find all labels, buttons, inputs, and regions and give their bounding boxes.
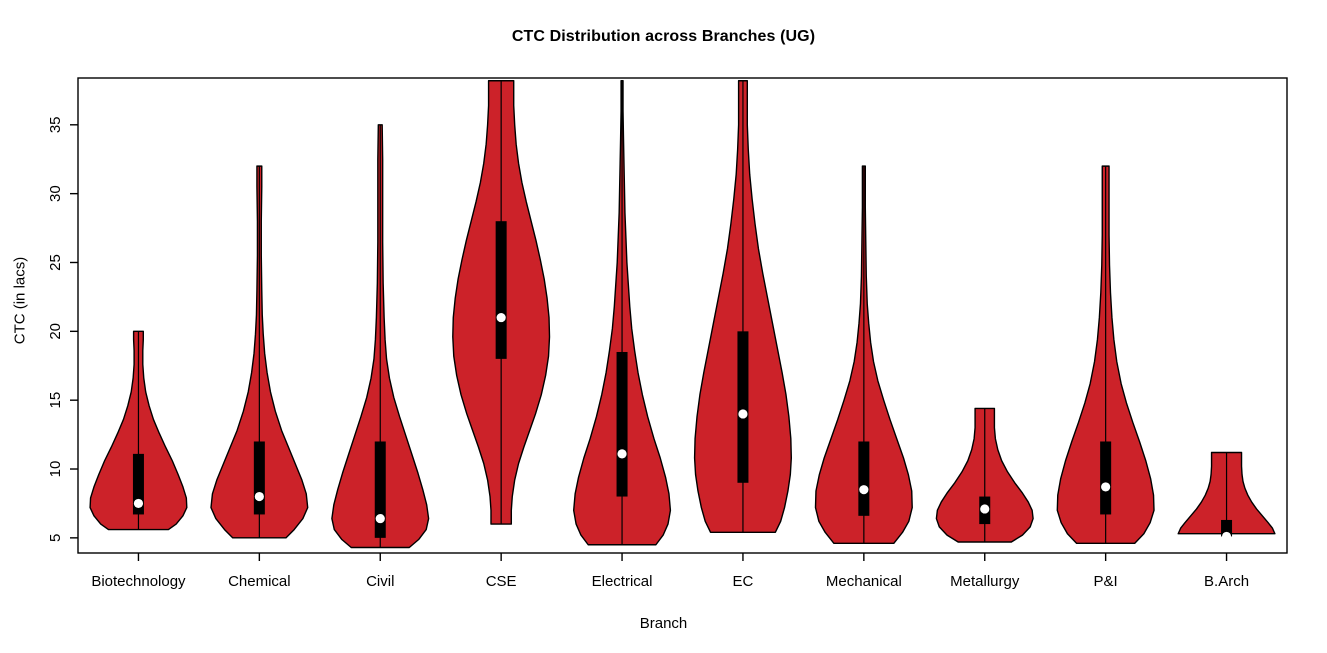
violin-metallurgy (936, 408, 1033, 542)
interquartile-box (617, 352, 628, 497)
y-axis-tick-label: 25 (47, 254, 64, 271)
x-axis-tick-label: Electrical (592, 573, 653, 590)
median-marker (859, 485, 868, 494)
median-marker (617, 449, 626, 458)
interquartile-box (858, 441, 869, 515)
violin-electrical (574, 81, 671, 545)
x-axis-tick-label: Chemical (228, 573, 291, 590)
plot-canvas: 5101520253035BiotechnologyChemicalCivilC… (0, 0, 1327, 653)
interquartile-box (254, 441, 265, 514)
x-axis-tick-label: Mechanical (826, 573, 902, 590)
y-axis-tick-label: 10 (47, 461, 64, 478)
y-axis-tick-label: 30 (47, 185, 64, 202)
median-marker (1101, 482, 1110, 491)
median-marker (497, 313, 506, 322)
median-marker (376, 514, 385, 523)
violin-ec (695, 81, 792, 533)
violin-civil (332, 125, 429, 548)
x-axis-tick-label: P&I (1094, 573, 1118, 590)
median-marker (738, 409, 747, 418)
violin-mechanical (815, 166, 912, 543)
median-marker (255, 492, 264, 501)
violin-p-i (1057, 166, 1154, 543)
y-axis-tick-label: 5 (47, 534, 64, 542)
interquartile-box (496, 221, 507, 359)
interquartile-box (737, 331, 748, 482)
x-axis-tick-label: B.Arch (1204, 573, 1249, 590)
x-axis-tick-label: EC (733, 573, 754, 590)
interquartile-box (1100, 441, 1111, 514)
y-axis-tick-label: 15 (47, 392, 64, 409)
y-axis-tick-label: 20 (47, 323, 64, 340)
y-axis-tick-label: 35 (47, 116, 64, 133)
violin-plot-figure: CTC Distribution across Branches (UG) CT… (0, 0, 1327, 653)
median-marker (980, 504, 989, 513)
median-marker (134, 499, 143, 508)
violin-cse (453, 81, 550, 524)
interquartile-box (375, 441, 386, 537)
violin-b-arch (1178, 452, 1275, 541)
x-axis-tick-label: Biotechnology (91, 573, 186, 590)
median-marker (1222, 532, 1231, 541)
violin-chemical (211, 166, 308, 538)
violins-layer (90, 81, 1275, 548)
x-axis-tick-label: Metallurgy (950, 573, 1020, 590)
violin-biotechnology (90, 331, 187, 529)
x-axis-tick-label: Civil (366, 573, 394, 590)
x-axis-tick-label: CSE (486, 573, 517, 590)
